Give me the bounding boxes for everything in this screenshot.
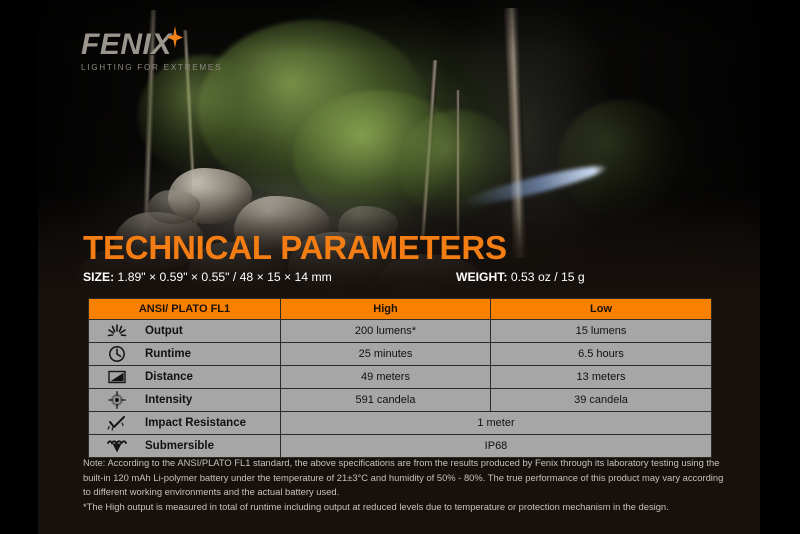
row-label-submersible: Submersible	[89, 435, 281, 458]
row-label-impact-resistance: Impact Resistance	[89, 412, 281, 435]
cell-submersible-value: IP68	[281, 435, 712, 458]
table-header-row: ANSI/ PLATO FL1 High Low	[89, 299, 712, 320]
crosshair-intensity-icon	[89, 391, 145, 409]
table-row: Intensity 591 candela 39 candela	[89, 389, 712, 412]
row-label-distance: Distance	[89, 366, 281, 389]
beam-distance-icon	[89, 369, 145, 385]
size-value: 1.89" × 0.59" × 0.55" / 48 × 15 × 14 mm	[118, 270, 332, 284]
weight-value: 0.53 oz / 15 g	[511, 270, 585, 284]
cell-impact-resistance-value: 1 meter	[281, 412, 712, 435]
weight-spec: WEIGHT: 0.53 oz / 15 g	[456, 270, 585, 284]
row-label-text: Output	[145, 325, 183, 337]
row-label-runtime: Runtime	[89, 343, 281, 366]
footnote-high-output: *The High output is measured in total of…	[83, 500, 728, 515]
table-row: Output 200 lumens* 15 lumens	[89, 320, 712, 343]
table-row: Impact Resistance 1 meter	[89, 412, 712, 435]
cell-runtime-low: 6.5 hours	[491, 343, 712, 366]
technical-parameters-table: ANSI/ PLATO FL1 High Low	[88, 298, 712, 458]
page-title: TECHNICAL PARAMETERS	[83, 230, 507, 266]
cell-output-low: 15 lumens	[491, 320, 712, 343]
product-spec-page: FENIX LIGHTING FOR EXTREMES TECHNICAL PA…	[0, 0, 800, 534]
weight-label: WEIGHT:	[456, 270, 507, 284]
clock-runtime-icon	[89, 345, 145, 363]
size-spec: SIZE: 1.89" × 0.59" × 0.55" / 48 × 15 × …	[83, 270, 332, 284]
submersible-water-icon	[89, 438, 145, 454]
impact-resistance-icon	[89, 415, 145, 431]
column-header-high: High	[281, 299, 491, 320]
row-label-output: Output	[89, 320, 281, 343]
row-label-text: Submersible	[145, 440, 214, 452]
table-row: Submersible IP68	[89, 435, 712, 458]
cell-runtime-high: 25 minutes	[281, 343, 491, 366]
brand-name: FENIX	[81, 30, 241, 60]
row-label-text: Distance	[145, 371, 193, 383]
footnotes: Note: According to the ANSI/PLATO FL1 st…	[83, 456, 728, 514]
row-label-text: Impact Resistance	[145, 417, 246, 429]
cell-distance-low: 13 meters	[491, 366, 712, 389]
table-row: Runtime 25 minutes 6.5 hours	[89, 343, 712, 366]
row-label-text: Intensity	[145, 394, 192, 406]
column-header-ansi: ANSI/ PLATO FL1	[89, 299, 281, 320]
cell-intensity-low: 39 candela	[491, 389, 712, 412]
row-label-text: Runtime	[145, 348, 191, 360]
cell-distance-high: 49 meters	[281, 366, 491, 389]
table-head: ANSI/ PLATO FL1 High Low	[89, 299, 712, 320]
sunburst-output-icon	[89, 323, 145, 339]
row-label-intensity: Intensity	[89, 389, 281, 412]
cell-intensity-high: 591 candela	[281, 389, 491, 412]
content-panel: FENIX LIGHTING FOR EXTREMES TECHNICAL PA…	[38, 0, 760, 534]
fenix-logo: FENIX LIGHTING FOR EXTREMES	[81, 30, 241, 76]
table-row: Distance 49 meters 13 meters	[89, 366, 712, 389]
footnote-ansi: Note: According to the ANSI/PLATO FL1 st…	[83, 456, 728, 500]
cell-output-high: 200 lumens*	[281, 320, 491, 343]
brand-tagline: LIGHTING FOR EXTREMES	[81, 63, 241, 72]
column-header-low: Low	[491, 299, 712, 320]
size-label: SIZE:	[83, 270, 114, 284]
table-body: Output 200 lumens* 15 lumens	[89, 320, 712, 458]
